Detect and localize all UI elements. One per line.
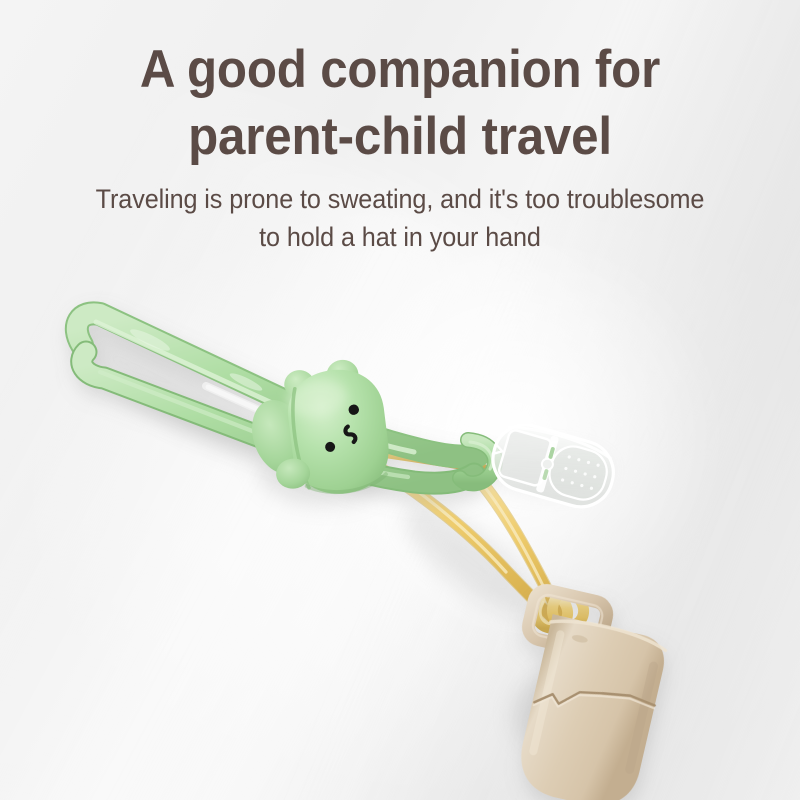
headline-line-1: A good companion for <box>28 36 772 103</box>
subtitle-line-2: to hold a hat in your hand <box>20 218 780 256</box>
subtitle-line-1: Traveling is prone to sweating, and it's… <box>20 180 780 218</box>
banner-text-block: A good companion for parent-child travel… <box>0 0 800 256</box>
page-title: A good companion for parent-child travel <box>28 0 772 171</box>
page-subtitle: Traveling is prone to sweating, and it's… <box>20 171 780 256</box>
product-banner: A good companion for parent-child travel… <box>0 0 800 800</box>
transparent-clip <box>485 417 620 514</box>
headline-line-2: parent-child travel <box>28 103 772 170</box>
